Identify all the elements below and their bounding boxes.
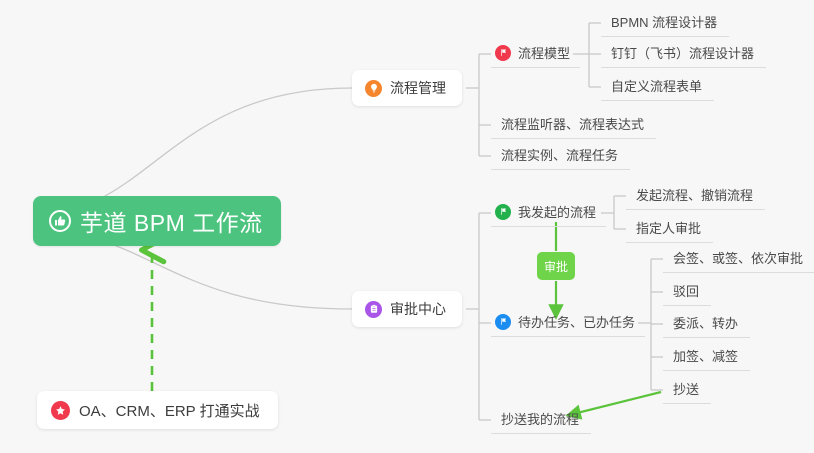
branch-approval-center[interactable]: 审批中心 xyxy=(352,291,462,327)
node-process-instance-task[interactable]: 流程实例、流程任务 xyxy=(491,142,630,170)
node-todo-done-tasks[interactable]: 待办任务、已办任务 xyxy=(491,309,645,337)
node-integration-practice-label: OA、CRM、ERP 打通实战 xyxy=(79,400,260,421)
node-integration-practice[interactable]: OA、CRM、ERP 打通实战 xyxy=(37,391,278,429)
mindmap-canvas: 芋道 BPM 工作流 流程管理 流程模型 BPMN 流程设计器 钉钉（飞书）流程… xyxy=(0,0,814,453)
node-start-cancel-process[interactable]: 发起流程、撤销流程 xyxy=(626,182,765,210)
node-reject[interactable]: 驳回 xyxy=(663,278,711,306)
node-countersign-or-sequential[interactable]: 会签、或签、依次审批 xyxy=(663,245,814,273)
node-process-model[interactable]: 流程模型 xyxy=(491,40,580,68)
node-my-initiated-process-label: 我发起的流程 xyxy=(518,202,596,221)
node-delegate-transfer[interactable]: 委派、转办 xyxy=(663,310,750,338)
approve-tag[interactable]: 审批 xyxy=(537,252,575,280)
branch-process-management-label: 流程管理 xyxy=(390,78,446,98)
node-assignee-approval[interactable]: 指定人审批 xyxy=(626,215,713,243)
node-dingtalk-feishu-designer[interactable]: 钉钉（飞书）流程设计器 xyxy=(601,40,766,68)
flag-icon xyxy=(495,314,511,330)
node-add-remove-sign[interactable]: 加签、减签 xyxy=(663,343,750,371)
node-process-listener-expression[interactable]: 流程监听器、流程表达式 xyxy=(491,111,656,139)
node-custom-process-form[interactable]: 自定义流程表单 xyxy=(601,73,714,101)
root-node[interactable]: 芋道 BPM 工作流 xyxy=(33,196,281,246)
flag-icon xyxy=(495,45,511,61)
node-cc[interactable]: 抄送 xyxy=(663,376,711,404)
node-todo-done-tasks-label: 待办任务、已办任务 xyxy=(518,312,635,331)
node-bpmn-designer[interactable]: BPMN 流程设计器 xyxy=(601,9,729,37)
star-icon xyxy=(51,401,70,420)
branch-approval-center-label: 审批中心 xyxy=(390,299,446,319)
flag-icon xyxy=(495,204,511,220)
node-process-model-label: 流程模型 xyxy=(518,43,570,62)
lightbulb-icon xyxy=(365,80,382,97)
thumbs-up-icon xyxy=(49,210,71,232)
node-my-initiated-process[interactable]: 我发起的流程 xyxy=(491,199,606,227)
approve-tag-label: 审批 xyxy=(544,258,568,275)
node-cc-to-me-process[interactable]: 抄送我的流程 xyxy=(491,406,591,434)
root-label: 芋道 BPM 工作流 xyxy=(80,204,263,238)
clipboard-icon xyxy=(365,301,382,318)
branch-process-management[interactable]: 流程管理 xyxy=(352,70,462,106)
